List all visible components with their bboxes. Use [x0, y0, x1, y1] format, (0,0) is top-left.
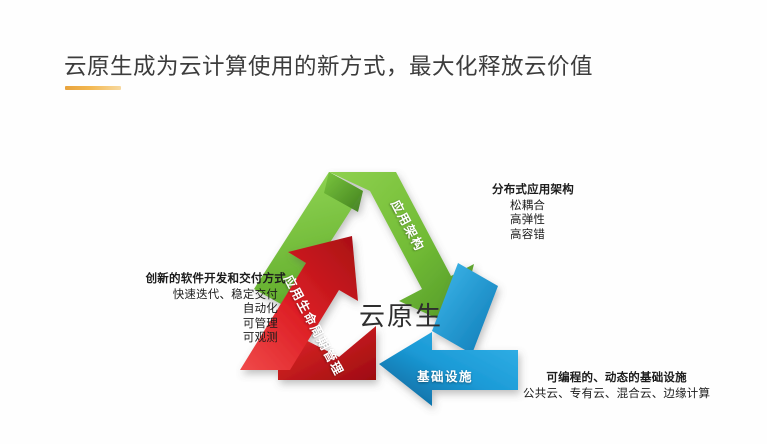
callout-infrastructure: 可编程的、动态的基础设施 公共云、专有云、混合云、边缘计算 — [523, 371, 710, 401]
callout-architecture-item: 松耦合 — [492, 199, 574, 214]
callout-lifecycle-item: 自动化 — [0, 302, 286, 317]
callout-architecture-heading: 分布式应用架构 — [492, 183, 574, 198]
page-title: 云原生成为云计算使用的新方式，最大化释放云价值 — [64, 52, 704, 82]
callout-infrastructure-item: 公共云、专有云、混合云、边缘计算 — [523, 387, 710, 402]
page-title-block: 云原生成为云计算使用的新方式，最大化释放云价值 — [64, 52, 704, 82]
title-accent-underline — [65, 86, 121, 90]
callout-infrastructure-heading: 可编程的、动态的基础设施 — [523, 371, 710, 386]
callout-lifecycle-heading: 创新的软件开发和交付方式 — [0, 272, 286, 287]
callout-lifecycle-item: 可管理 — [0, 317, 286, 332]
callout-architecture-item: 高容错 — [492, 228, 574, 243]
callout-lifecycle: 创新的软件开发和交付方式 快速迭代、稳定交付 自动化 可管理 可观测 — [0, 272, 286, 346]
slide-canvas: 云原生成为云计算使用的新方式，最大化释放云价值 — [0, 0, 767, 444]
callout-lifecycle-item: 快速迭代、稳定交付 — [0, 288, 286, 303]
callout-lifecycle-item: 可观测 — [0, 331, 286, 346]
callout-architecture-item: 高弹性 — [492, 213, 574, 228]
diagram-center-label: 云原生 — [359, 296, 443, 333]
callout-architecture: 分布式应用架构 松耦合 高弹性 高容错 — [492, 183, 574, 242]
